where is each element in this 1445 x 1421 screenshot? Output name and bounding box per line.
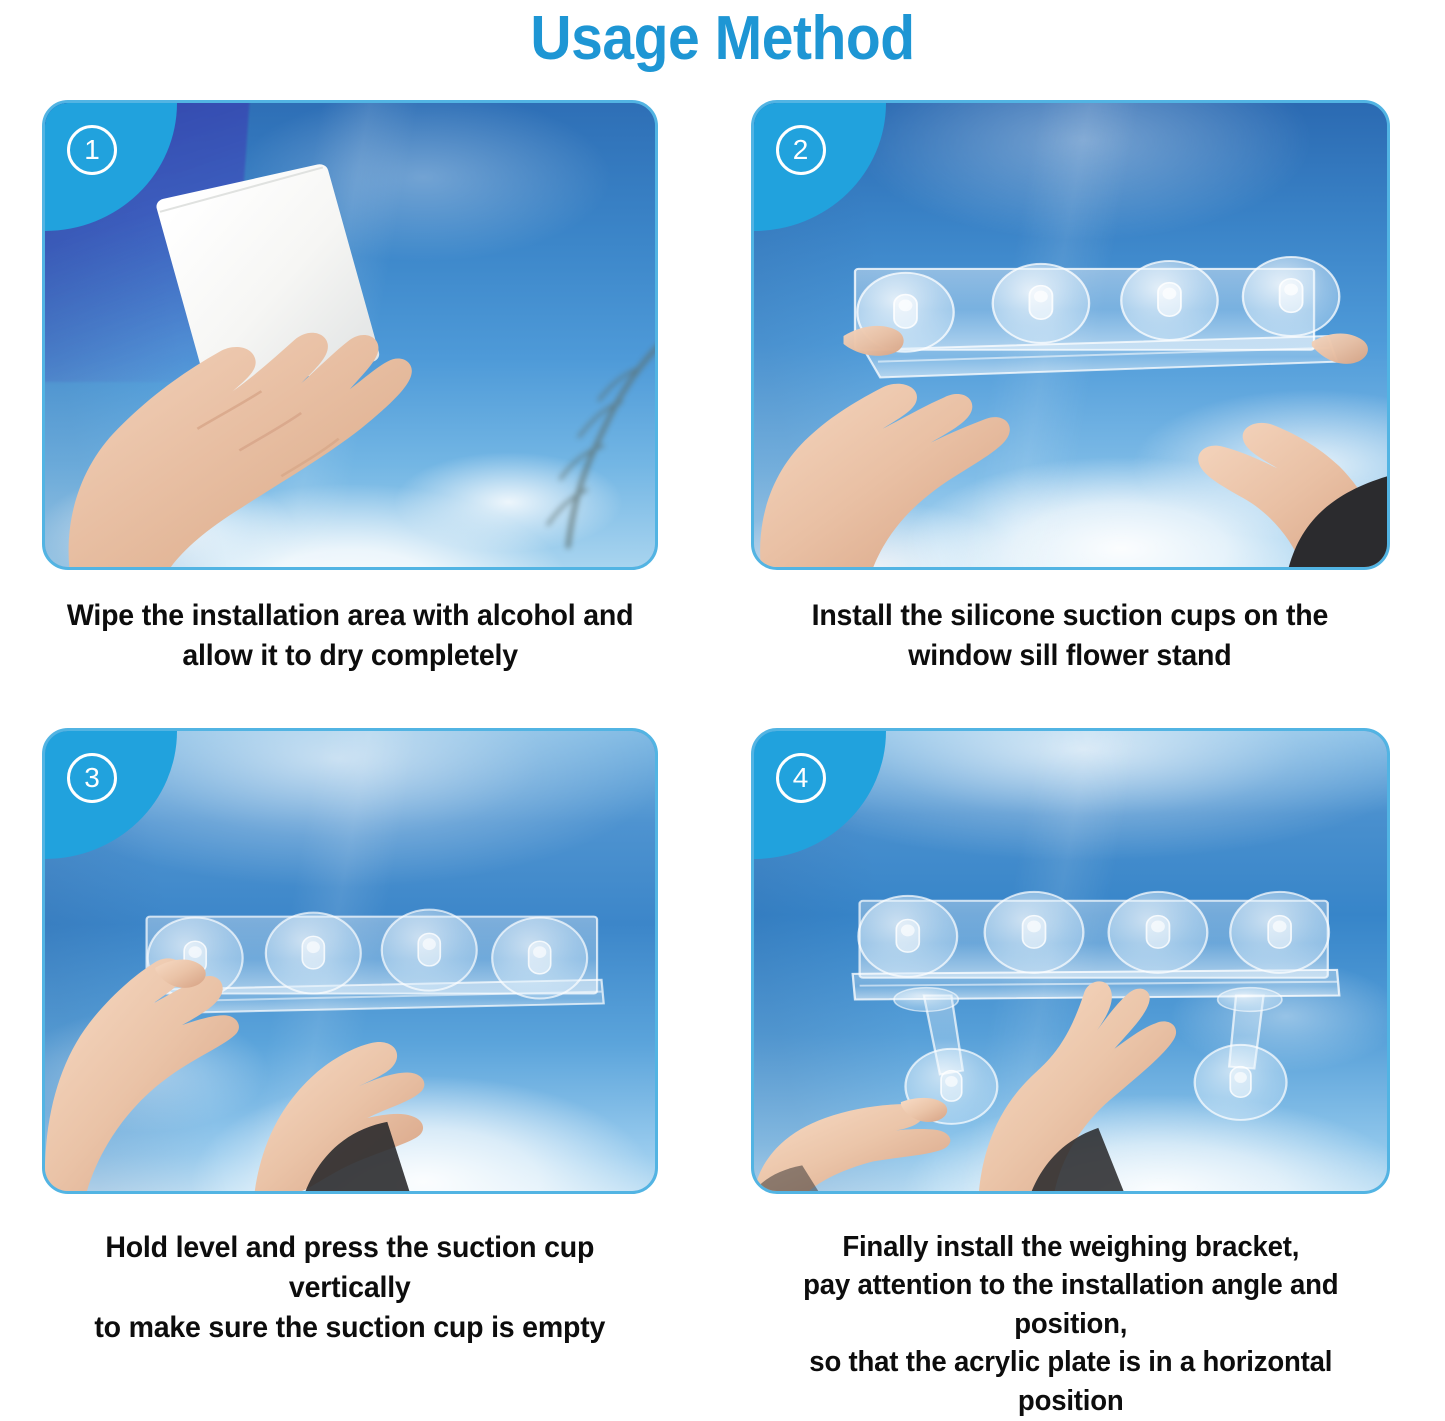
step-number-3: 3	[67, 753, 117, 803]
support-bracket-right	[1194, 987, 1286, 1119]
step-4-photo: 4	[751, 728, 1391, 1194]
step-number-2: 2	[776, 125, 826, 175]
step-caption-3: Hold level and press the suction cup ver…	[57, 1228, 642, 1348]
step-caption-1: Wipe the installation area with alcohol …	[67, 596, 633, 676]
usage-steps-grid: 1 Wipe the installation area with alcoho…	[0, 100, 1445, 1421]
step-number-1: 1	[67, 125, 117, 175]
step-cell-3: 3 Hold level and press the suction cup v…	[0, 728, 723, 1421]
page-title: Usage Method	[58, 0, 1387, 92]
step-cell-1: 1 Wipe the installation area with alcoho…	[0, 100, 723, 676]
step-2-photo: 2	[751, 100, 1391, 570]
step-cell-4: 4 Finally install the weighing bracket, …	[723, 728, 1445, 1421]
step-caption-4: Finally install the weighing bracket, pa…	[766, 1228, 1374, 1421]
step-3-photo: 3	[42, 728, 658, 1194]
step-cell-2: 2 Install the silicone suction cups on t…	[723, 100, 1445, 676]
step-1-photo: 1	[42, 100, 658, 570]
step-caption-2: Install the silicone suction cups on the…	[812, 596, 1329, 676]
step-number-4: 4	[776, 753, 826, 803]
